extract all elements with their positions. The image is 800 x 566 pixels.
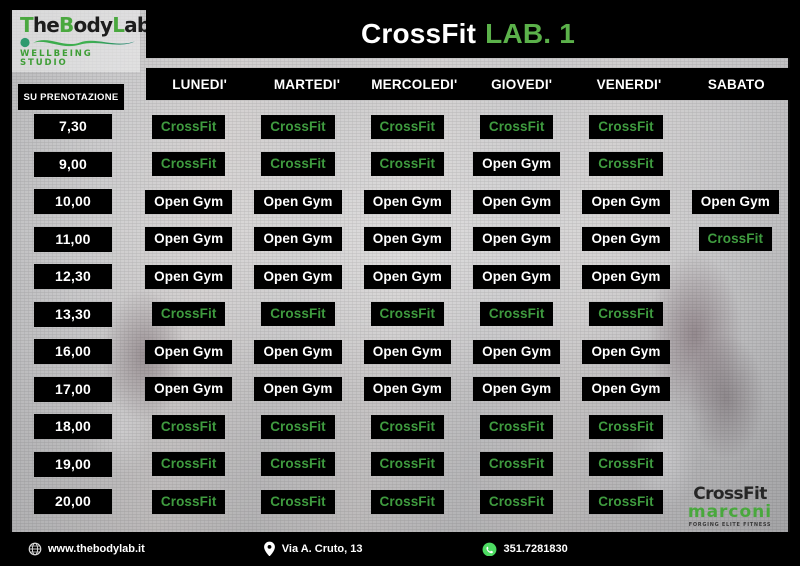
schedule-slot: Open Gym <box>462 227 571 251</box>
day-header-mercoledi: MERCOLEDI' <box>361 77 468 92</box>
class-chip-crossfit[interactable]: CrossFit <box>371 490 445 514</box>
class-chip-opengym[interactable]: Open Gym <box>254 190 341 214</box>
schedule-slot <box>681 302 790 326</box>
class-chip-opengym[interactable]: Open Gym <box>582 340 669 364</box>
class-chip-opengym[interactable]: Open Gym <box>254 340 341 364</box>
class-chip-opengym[interactable]: Open Gym <box>364 340 451 364</box>
class-chip-empty <box>726 347 744 356</box>
class-chip-crossfit[interactable]: CrossFit <box>261 152 335 176</box>
class-chip-crossfit[interactable]: CrossFit <box>261 302 335 326</box>
schedule-slots: Open GymOpen GymOpen GymOpen GymOpen Gym <box>134 377 790 401</box>
time-label: 11,00 <box>34 227 112 252</box>
schedule-slot: CrossFit <box>462 490 571 514</box>
class-chip-crossfit[interactable]: CrossFit <box>589 415 663 439</box>
schedule-slot: Open Gym <box>243 190 352 214</box>
brand-logo-wordmark: TheBodyLab <box>20 15 134 35</box>
class-chip-crossfit[interactable]: CrossFit <box>480 490 554 514</box>
schedule-slot: CrossFit <box>134 452 243 476</box>
schedule-slot: Open Gym <box>243 377 352 401</box>
time-label: 10,00 <box>34 189 112 214</box>
class-chip-opengym[interactable]: Open Gym <box>473 265 560 289</box>
schedule-slot: Open Gym <box>134 265 243 289</box>
schedule-slot: CrossFit <box>571 152 680 176</box>
crossfit-marconi-line2: marconi <box>678 504 782 521</box>
schedule-slot: Open Gym <box>571 377 680 401</box>
schedule-slots: CrossFitCrossFitCrossFitCrossFitCrossFit <box>134 415 790 439</box>
schedule-slot: CrossFit <box>571 302 680 326</box>
class-chip-opengym[interactable]: Open Gym <box>145 265 232 289</box>
class-chip-crossfit[interactable]: CrossFit <box>152 115 226 139</box>
schedule-slot <box>681 265 790 289</box>
schedule-slot: CrossFit <box>571 415 680 439</box>
schedule-slot: CrossFit <box>134 490 243 514</box>
schedule-row: 7,30CrossFitCrossFitCrossFitCrossFitCros… <box>12 108 790 146</box>
logo-letters-he: he <box>33 13 59 37</box>
class-chip-crossfit[interactable]: CrossFit <box>152 452 226 476</box>
time-cell: 19,00 <box>12 452 134 477</box>
time-cell: 11,00 <box>12 227 134 252</box>
class-chip-opengym[interactable]: Open Gym <box>254 227 341 251</box>
schedule-slot: CrossFit <box>243 115 352 139</box>
schedule-slot: Open Gym <box>571 190 680 214</box>
schedule-row: 20,00CrossFitCrossFitCrossFitCrossFitCro… <box>12 483 790 521</box>
schedule-slot: CrossFit <box>353 415 462 439</box>
class-chip-empty <box>726 460 744 469</box>
class-chip-crossfit[interactable]: CrossFit <box>261 115 335 139</box>
globe-icon <box>28 542 42 556</box>
class-chip-crossfit[interactable]: CrossFit <box>480 452 554 476</box>
schedule-slot: CrossFit <box>462 115 571 139</box>
logo-letters-ody: ody <box>74 13 113 37</box>
time-label: 18,00 <box>34 414 112 439</box>
schedule-slot: CrossFit <box>353 152 462 176</box>
time-label: 20,00 <box>34 489 112 514</box>
schedule-slots: CrossFitCrossFitCrossFitOpen GymCrossFit <box>134 152 790 176</box>
footer-website[interactable]: www.thebodylab.it <box>28 542 145 556</box>
schedule-slots: Open GymOpen GymOpen GymOpen GymOpen Gym <box>134 340 790 364</box>
class-chip-crossfit[interactable]: CrossFit <box>152 152 226 176</box>
schedule-slot: CrossFit <box>571 490 680 514</box>
schedule-slot: CrossFit <box>134 415 243 439</box>
class-chip-opengym[interactable]: Open Gym <box>145 340 232 364</box>
schedule-row: 10,00Open GymOpen GymOpen GymOpen GymOpe… <box>12 183 790 221</box>
schedule-slot: CrossFit <box>681 227 790 251</box>
schedule-slot: Open Gym <box>134 227 243 251</box>
schedule-slot: CrossFit <box>571 115 680 139</box>
page-title-accent: LAB. 1 <box>485 18 575 50</box>
class-chip-crossfit[interactable]: CrossFit <box>589 152 663 176</box>
class-chip-crossfit[interactable]: CrossFit <box>480 415 554 439</box>
schedule-slot <box>681 415 790 439</box>
schedule-slot: CrossFit <box>353 302 462 326</box>
schedule-slot: CrossFit <box>134 302 243 326</box>
schedule-slot: Open Gym <box>353 340 462 364</box>
brand-logo: TheBodyLab WELLBEING STUDIO <box>12 10 140 72</box>
day-header-row: LUNEDI' MARTEDI' MERCOLEDI' GIOVEDI' VEN… <box>146 68 790 100</box>
schedule-row: 18,00CrossFitCrossFitCrossFitCrossFitCro… <box>12 408 790 446</box>
time-label: 9,00 <box>34 152 112 177</box>
schedule-slot: Open Gym <box>462 190 571 214</box>
schedule-slot: CrossFit <box>462 415 571 439</box>
class-chip-crossfit[interactable]: CrossFit <box>480 115 554 139</box>
schedule-row: 19,00CrossFitCrossFitCrossFitCrossFitCro… <box>12 446 790 484</box>
crossfit-marconi-line1: CrossFit <box>678 486 782 503</box>
class-chip-opengym[interactable]: Open Gym <box>582 227 669 251</box>
class-chip-opengym[interactable]: Open Gym <box>364 265 451 289</box>
class-chip-opengym[interactable]: Open Gym <box>473 190 560 214</box>
class-chip-crossfit[interactable]: CrossFit <box>371 415 445 439</box>
schedule-slot: Open Gym <box>462 152 571 176</box>
footer-address: Via A. Cruto, 13 <box>263 541 363 557</box>
time-cell: 16,00 <box>12 339 134 364</box>
schedule-slots: CrossFitCrossFitCrossFitCrossFitCrossFit <box>134 452 790 476</box>
class-chip-opengym[interactable]: Open Gym <box>473 227 560 251</box>
schedule-slot: CrossFit <box>462 452 571 476</box>
schedule-slot: CrossFit <box>243 415 352 439</box>
footer-phone-label: 351.7281830 <box>503 543 567 555</box>
class-chip-opengym[interactable]: Open Gym <box>364 190 451 214</box>
day-header-lunedi: LUNEDI' <box>146 77 253 92</box>
schedule-slot: CrossFit <box>243 302 352 326</box>
footer-phone[interactable]: 351.7281830 <box>482 542 567 557</box>
day-header-sabato: SABATO <box>683 77 790 92</box>
schedule-slot: CrossFit <box>353 490 462 514</box>
schedule-slot: CrossFit <box>353 115 462 139</box>
schedule-slot: Open Gym <box>353 265 462 289</box>
schedule-slots: CrossFitCrossFitCrossFitCrossFitCrossFit <box>134 115 790 139</box>
schedule-poster: TheBodyLab WELLBEING STUDIO SU PRENOTAZI… <box>0 0 800 566</box>
crossfit-marconi-tagline: FORGING ELITE FITNESS <box>678 523 782 528</box>
schedule-slot: Open Gym <box>571 227 680 251</box>
class-chip-opengym[interactable]: Open Gym <box>364 377 451 401</box>
class-chip-crossfit[interactable]: CrossFit <box>589 490 663 514</box>
logo-wave-icon <box>20 36 136 49</box>
class-chip-opengym[interactable]: Open Gym <box>473 377 560 401</box>
schedule-slot: Open Gym <box>243 265 352 289</box>
schedule-slot: Open Gym <box>134 340 243 364</box>
schedule-slot <box>681 152 790 176</box>
class-chip-opengym[interactable]: Open Gym <box>254 377 341 401</box>
time-cell: 9,00 <box>12 152 134 177</box>
schedule-row: 16,00Open GymOpen GymOpen GymOpen GymOpe… <box>12 333 790 371</box>
schedule-slot: Open Gym <box>462 265 571 289</box>
schedule-row: 17,00Open GymOpen GymOpen GymOpen GymOpe… <box>12 371 790 409</box>
schedule-slots: Open GymOpen GymOpen GymOpen GymOpen Gym… <box>134 190 790 214</box>
time-cell: 18,00 <box>12 414 134 439</box>
day-header-venerdi: VENERDI' <box>575 77 682 92</box>
logo-letter-l: L <box>112 13 124 37</box>
time-cell: 13,30 <box>12 302 134 327</box>
schedule-slot <box>681 377 790 401</box>
footer-website-label: www.thebodylab.it <box>48 543 145 555</box>
whatsapp-icon <box>482 542 497 557</box>
class-chip-crossfit[interactable]: CrossFit <box>261 490 335 514</box>
schedule-row: 11,00Open GymOpen GymOpen GymOpen GymOpe… <box>12 221 790 259</box>
schedule-slot: CrossFit <box>134 152 243 176</box>
class-chip-crossfit[interactable]: CrossFit <box>589 452 663 476</box>
schedule-slot: Open Gym <box>134 190 243 214</box>
class-chip-opengym[interactable]: Open Gym <box>145 377 232 401</box>
footer-address-label: Via A. Cruto, 13 <box>282 543 363 555</box>
time-cell: 7,30 <box>12 114 134 139</box>
class-chip-crossfit[interactable]: CrossFit <box>371 115 445 139</box>
schedule-grid: 7,30CrossFitCrossFitCrossFitCrossFitCros… <box>12 108 790 521</box>
day-header-martedi: MARTEDI' <box>253 77 360 92</box>
time-cell: 10,00 <box>12 189 134 214</box>
class-chip-opengym[interactable]: Open Gym <box>692 190 779 214</box>
schedule-slot: Open Gym <box>462 377 571 401</box>
class-chip-empty <box>726 160 744 169</box>
class-chip-empty <box>726 385 744 394</box>
schedule-slot: Open Gym <box>243 227 352 251</box>
time-label: 19,00 <box>34 452 112 477</box>
time-label: 12,30 <box>34 264 112 289</box>
class-chip-crossfit[interactable]: CrossFit <box>371 452 445 476</box>
schedule-row: 13,30CrossFitCrossFitCrossFitCrossFitCro… <box>12 296 790 334</box>
poster-title-bar: CrossFit LAB. 1 <box>146 10 790 58</box>
schedule-slot: CrossFit <box>243 490 352 514</box>
time-label: 16,00 <box>34 339 112 364</box>
logo-letter-b: B <box>59 13 73 37</box>
schedule-row: 9,00CrossFitCrossFitCrossFitOpen GymCros… <box>12 146 790 184</box>
class-chip-opengym[interactable]: Open Gym <box>582 265 669 289</box>
schedule-slots: Open GymOpen GymOpen GymOpen GymOpen Gym… <box>134 227 790 251</box>
class-chip-crossfit[interactable]: CrossFit <box>371 302 445 326</box>
schedule-slot: CrossFit <box>571 452 680 476</box>
class-chip-crossfit[interactable]: CrossFit <box>589 302 663 326</box>
schedule-slot: CrossFit <box>243 452 352 476</box>
time-label: 17,00 <box>34 377 112 402</box>
class-chip-crossfit[interactable]: CrossFit <box>589 115 663 139</box>
class-chip-crossfit[interactable]: CrossFit <box>152 415 226 439</box>
logo-letter-t: T <box>20 13 33 37</box>
class-chip-crossfit[interactable]: CrossFit <box>699 227 773 251</box>
class-chip-crossfit[interactable]: CrossFit <box>261 415 335 439</box>
class-chip-opengym[interactable]: Open Gym <box>582 377 669 401</box>
class-chip-empty <box>726 272 744 281</box>
class-chip-empty <box>726 310 744 319</box>
schedule-slots: Open GymOpen GymOpen GymOpen GymOpen Gym <box>134 265 790 289</box>
class-chip-crossfit[interactable]: CrossFit <box>152 490 226 514</box>
crossfit-marconi-logo: CrossFit marconi FORGING ELITE FITNESS <box>678 486 782 528</box>
class-chip-opengym[interactable]: Open Gym <box>473 340 560 364</box>
schedule-slot: Open Gym <box>571 340 680 364</box>
schedule-slot: Open Gym <box>353 190 462 214</box>
class-chip-crossfit[interactable]: CrossFit <box>371 152 445 176</box>
class-chip-opengym[interactable]: Open Gym <box>254 265 341 289</box>
time-cell: 12,30 <box>12 264 134 289</box>
schedule-slot <box>681 115 790 139</box>
schedule-row: 12,30Open GymOpen GymOpen GymOpen GymOpe… <box>12 258 790 296</box>
schedule-slot: Open Gym <box>353 227 462 251</box>
class-chip-opengym[interactable]: Open Gym <box>473 152 560 176</box>
class-chip-opengym[interactable]: Open Gym <box>145 190 232 214</box>
schedule-slot: Open Gym <box>243 340 352 364</box>
schedule-slot: CrossFit <box>134 115 243 139</box>
schedule-slot: CrossFit <box>353 452 462 476</box>
time-cell: 17,00 <box>12 377 134 402</box>
class-chip-crossfit[interactable]: CrossFit <box>152 302 226 326</box>
location-pin-icon <box>263 541 276 557</box>
schedule-slot <box>681 452 790 476</box>
class-chip-opengym[interactable]: Open Gym <box>582 190 669 214</box>
time-label: 13,30 <box>34 302 112 327</box>
schedule-slots: CrossFitCrossFitCrossFitCrossFitCrossFit <box>134 302 790 326</box>
class-chip-opengym[interactable]: Open Gym <box>364 227 451 251</box>
page-title: CrossFit <box>361 18 476 50</box>
class-chip-crossfit[interactable]: CrossFit <box>480 302 554 326</box>
schedule-slot: Open Gym <box>134 377 243 401</box>
time-cell: 20,00 <box>12 489 134 514</box>
schedule-slot: Open Gym <box>462 340 571 364</box>
brand-logo-subtitle: WELLBEING STUDIO <box>20 50 134 67</box>
time-label: 7,30 <box>34 114 112 139</box>
class-chip-crossfit[interactable]: CrossFit <box>261 452 335 476</box>
class-chip-empty <box>726 122 744 131</box>
day-header-giovedi: GIOVEDI' <box>468 77 575 92</box>
schedule-slot: CrossFit <box>462 302 571 326</box>
schedule-slot: CrossFit <box>243 152 352 176</box>
class-chip-empty <box>726 422 744 431</box>
class-chip-opengym[interactable]: Open Gym <box>145 227 232 251</box>
schedule-slot: Open Gym <box>353 377 462 401</box>
schedule-slot: Open Gym <box>681 190 790 214</box>
booking-required-badge: SU PRENOTAZIONE <box>18 84 124 110</box>
poster-footer: www.thebodylab.it Via A. Cruto, 13 <box>0 532 800 566</box>
schedule-slot <box>681 340 790 364</box>
schedule-slot: Open Gym <box>571 265 680 289</box>
